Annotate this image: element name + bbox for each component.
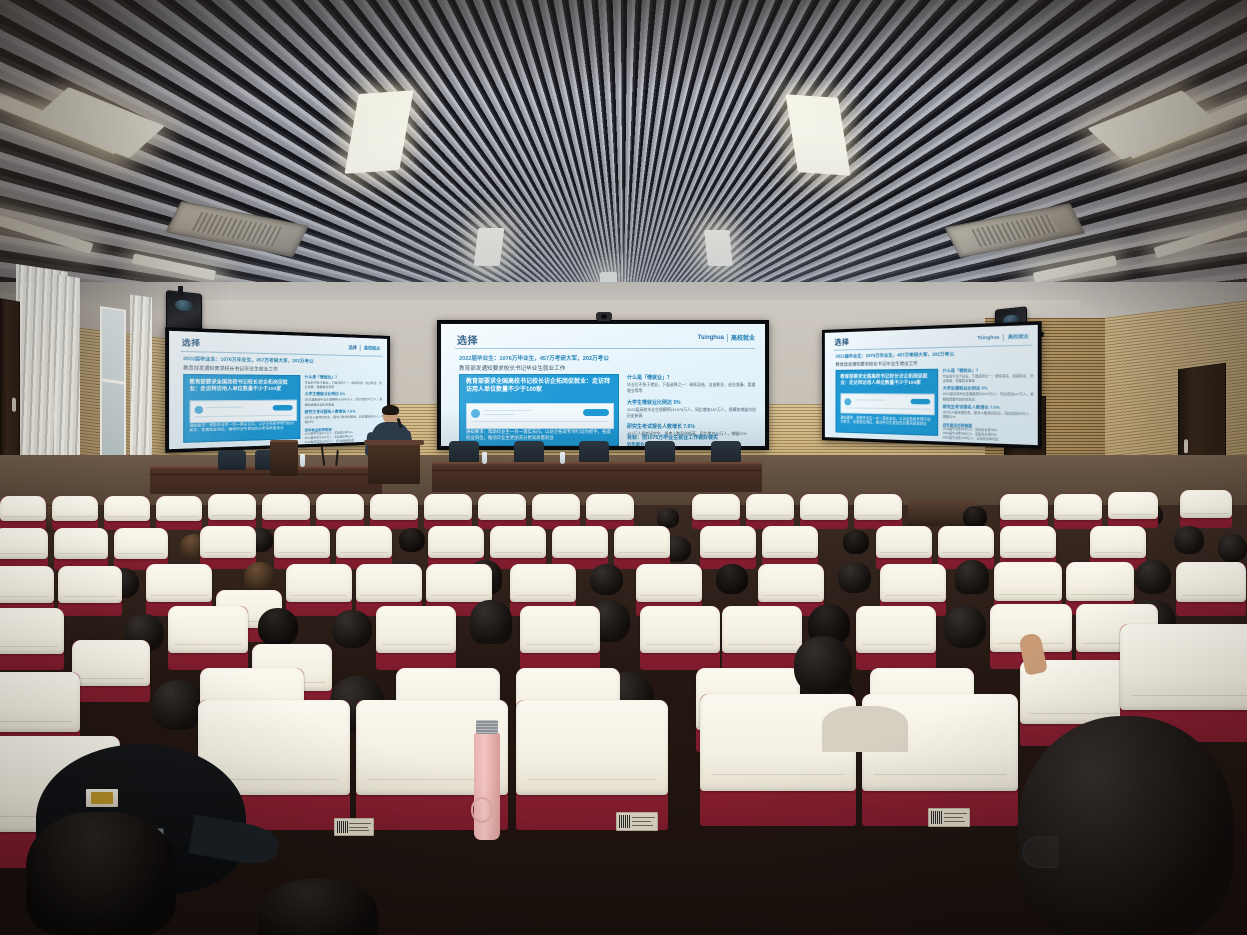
seat[interactable] <box>370 494 418 529</box>
seat[interactable] <box>532 494 580 529</box>
attendee-head <box>794 636 852 694</box>
water-bottle <box>300 454 305 467</box>
column-body-2: 2022届高校毕业生规模预计1076万人，同比增加167万人，规模和增量均创历史… <box>305 397 385 406</box>
card-line <box>844 407 930 409</box>
seat[interactable] <box>376 606 456 670</box>
lectern-top <box>364 440 424 445</box>
slide-left: 选择 选择 高校就业 2022届毕业生：1076万毕业生，457万考研大军，20… <box>169 331 387 449</box>
seat-asset-tag <box>616 812 658 831</box>
camera-lens-icon <box>601 314 607 319</box>
slide-title-right: 选择 <box>835 337 850 348</box>
seat[interactable] <box>208 494 256 529</box>
seat[interactable] <box>274 526 330 569</box>
slide-callout-footer-right: 通知要求：帮助毕业生一对一落实去向，以访企拓岗专项行动为抓手，拓宽就业岗位，推动… <box>840 415 932 426</box>
seat[interactable] <box>586 494 634 529</box>
thermos-bottle <box>474 732 500 840</box>
projection-screen-right: 选择 Tsinghua 高校就业 2022届毕业生：1076万毕业生，457万考… <box>822 321 1042 449</box>
logo-primary-text: 选择 <box>348 344 356 350</box>
seat[interactable] <box>700 526 756 569</box>
seat[interactable] <box>0 608 64 670</box>
card-action-pill[interactable] <box>273 405 293 411</box>
window-left <box>100 306 126 466</box>
attendee-head <box>843 530 869 554</box>
projection-screen-main: 选择 Tsinghua 高校就业 2022届毕业生：1076万毕业生，457万考… <box>437 320 769 450</box>
slide-callout-box-right: 教育部要求全国高校书记校长访企拓岗促就业：走访拜访用人单位数量不少于100家 通… <box>836 369 939 436</box>
seat[interactable] <box>520 606 600 670</box>
slide-callout-text-left: 教育部要求全国高校书记校长访企拓岗促就业：走访拜访用人单位数量不少于100家 <box>189 379 294 392</box>
column-body-1: 毕业后不急于就业，下面选择之一：继续深造、自由职业、创业准备、暂缓就业等等 <box>943 373 1034 383</box>
card-line <box>471 421 607 422</box>
slide-logo-right: Tsinghua 高校就业 <box>977 332 1029 342</box>
slide-embedded-card <box>466 403 614 429</box>
slide-callout-footer-left: 通知要求：帮助毕业生一对一落实去向，以访企拓岗专项行动为抓手，拓宽就业岗位，推动… <box>189 421 294 433</box>
seat[interactable] <box>516 700 668 830</box>
seat-asset-tag <box>334 818 374 836</box>
column-body-3: 457万人报考研究生，报考人数再创新高，同比增加80万人，增幅21% <box>943 410 1034 421</box>
card-avatar <box>844 398 851 405</box>
seat[interactable] <box>58 566 122 616</box>
card-line <box>854 399 885 400</box>
tag-text-line <box>349 830 369 831</box>
qr-code-icon <box>619 815 630 827</box>
head-table-left-edge <box>150 474 382 475</box>
seat[interactable] <box>104 496 150 530</box>
logo-secondary-text: 高校就业 <box>731 333 755 342</box>
head-table <box>432 462 762 492</box>
slide-subline-left: 教育部发通知要求校长书记毕业生就业工作 <box>183 365 382 374</box>
column-heading-1: 什么是「慢就业」？ <box>627 374 759 381</box>
qr-code-icon <box>931 811 942 823</box>
slide-callout-text-right: 教育部要求全国高校书记校长访企拓岗促就业：走访拜访用人单位数量不少于100家 <box>840 373 932 385</box>
seat[interactable] <box>800 494 848 529</box>
seat[interactable] <box>336 526 392 569</box>
seat-asset-tag <box>928 808 970 827</box>
column-body-2: 2022届高校毕业生规模预计1076万人，同比增加167万人，规模和增量均创历史… <box>943 392 1034 402</box>
seat[interactable] <box>316 494 364 529</box>
lectern-side <box>270 440 298 476</box>
seat[interactable] <box>478 494 526 529</box>
stage-chair <box>514 441 544 463</box>
tag-text-line <box>349 823 370 824</box>
slide-title-rule <box>455 348 755 349</box>
logo-primary-text: Tsinghua <box>977 334 999 340</box>
seat[interactable] <box>854 494 902 529</box>
attendee-head <box>838 562 871 593</box>
speaker-mount-left <box>178 286 183 296</box>
slide-subline: 教育部发通知要求校长书记毕业生就业工作 <box>459 364 759 372</box>
ceiling-shading <box>0 0 1247 300</box>
tag-text-line <box>944 813 966 814</box>
tag-text-line <box>944 817 963 818</box>
attendee-head <box>470 600 512 644</box>
seat[interactable] <box>200 526 256 569</box>
seat[interactable] <box>262 494 310 529</box>
slide-embedded-card-right <box>840 393 934 415</box>
seat[interactable] <box>614 526 670 569</box>
attendee-shoulder <box>822 706 908 752</box>
card-avatar <box>471 409 480 418</box>
seat[interactable] <box>640 606 720 670</box>
cap-logo-patch <box>86 789 118 807</box>
logo-secondary-text: 高校就业 <box>1008 333 1029 341</box>
attendee-head <box>1174 526 1204 554</box>
seat[interactable] <box>0 496 46 530</box>
card-line <box>484 414 514 415</box>
head-table-left-wing <box>150 466 382 494</box>
slide-main: 选择 Tsinghua 高校就业 2022届毕业生：1076万毕业生，457万考… <box>441 324 765 446</box>
slide-callout-box-left: 教育部要求全国高校书记校长访企拓岗促就业：走访拜访用人单位数量不少于100家 通… <box>183 374 300 443</box>
water-bottle <box>560 452 565 464</box>
slide-title-left: 选择 <box>182 337 201 349</box>
seat[interactable] <box>746 494 794 529</box>
card-line <box>194 415 292 418</box>
seat[interactable] <box>1176 562 1246 616</box>
stage-chair <box>645 441 675 463</box>
attendee-head <box>258 608 298 646</box>
presenter-hair <box>382 405 399 415</box>
column-body-4: 2020届毕业生874万人 · 实际就业率78% 2021届毕业生909万人 ·… <box>943 428 1034 445</box>
logo-secondary-text: 高校就业 <box>364 345 380 352</box>
head-table-edge <box>432 470 762 471</box>
attendee-head <box>944 606 986 648</box>
slide-callout-box: 教育部要求全国高校书记校长访企拓岗促就业：走访拜访用人单位数量不少于100家 通… <box>459 374 619 446</box>
seat[interactable] <box>72 640 150 702</box>
seat[interactable] <box>552 526 608 569</box>
slide-logo: Tsinghua 高校就业 <box>698 333 755 342</box>
slide-headline: 2022届毕业生：1076万毕业生，457万考研大军，202万考公 <box>459 354 759 362</box>
door-handle[interactable] <box>1184 439 1188 454</box>
tag-text-line <box>632 817 654 818</box>
stage-chair <box>579 441 609 463</box>
column-body-1: 毕业后不急于就业，下面选择之一：继续深造、自由职业、创业准备、暂缓就业等等 <box>305 380 385 389</box>
seat[interactable] <box>856 606 936 670</box>
seat[interactable] <box>424 494 472 529</box>
slide-column-right: 什么是「慢就业」？ 毕业后不急于就业，下面选择之一：继续深造、自由职业、创业准备… <box>943 368 1034 445</box>
attendee-head <box>1135 560 1171 594</box>
card-action-pill[interactable] <box>583 409 609 416</box>
slide-subline-right: 教育部发通知要求校长书记毕业生就业工作 <box>836 358 1032 367</box>
seat[interactable] <box>1054 494 1102 529</box>
slide-bottom-note: 目标：把1076万毕业生就业工作做好做实 <box>627 434 718 441</box>
attendee-head <box>955 560 989 594</box>
column-body-2: 2022届高校毕业生规模预计1076万人，同比增加167万人，规模和增量均创历史… <box>627 407 759 419</box>
attendee-head <box>716 564 748 594</box>
attendee-head <box>657 508 679 528</box>
slide-callout-text: 教育部要求全国高校书记校长访企拓岗促就业：走访拜访用人单位数量不少于100家 <box>466 379 612 394</box>
stage-chair <box>711 441 741 463</box>
seat[interactable] <box>692 494 740 529</box>
card-action-pill[interactable] <box>911 399 931 405</box>
qr-code-icon <box>337 821 348 833</box>
card-line <box>484 410 532 411</box>
seat[interactable] <box>156 496 202 530</box>
seat[interactable] <box>722 606 802 670</box>
seat[interactable] <box>286 564 352 616</box>
attendee-head <box>244 562 276 592</box>
water-bottle <box>482 452 487 464</box>
attendee-head <box>963 506 987 528</box>
column-body-1: 毕业后不急于就业，下面选择之一：继续深造、自由职业、创业准备、暂缓就业等等 <box>627 382 759 394</box>
attendee-head <box>332 610 372 648</box>
slide-logo-left: 选择 高校就业 <box>348 344 380 352</box>
thermos-handle <box>471 797 493 823</box>
slide-right: 选择 Tsinghua 高校就业 2022届毕业生：1076万毕业生，457万考… <box>825 325 1038 445</box>
card-line <box>207 407 243 409</box>
seat[interactable] <box>762 526 818 569</box>
slide-embedded-card-left <box>189 400 297 424</box>
slide-title: 选择 <box>457 332 478 347</box>
seat[interactable] <box>876 526 932 569</box>
seat[interactable] <box>0 528 48 570</box>
column-bottom-note: 目标：把1076万毕业生就业工作做好做实 <box>943 444 1034 445</box>
tag-text-line <box>944 821 965 822</box>
logo-divider <box>360 345 361 351</box>
logo-divider <box>727 334 728 342</box>
attendee-hair-under-cap <box>26 812 176 935</box>
attendee-head <box>1218 534 1247 562</box>
auditorium-photo: 选择 Tsinghua 高校就业 2022届毕业生：1076万毕业生，457万考… <box>0 0 1247 935</box>
attendee-head-foreground <box>1018 716 1234 935</box>
column-heading-2: 大学生慢就业比例达 5% <box>627 399 759 406</box>
projection-screen-left: 选择 选择 高校就业 2022届毕业生：1076万毕业生，457万考研大军，20… <box>165 327 390 453</box>
thermos-cap <box>476 720 499 734</box>
column-heading-3: 研究生考试报名人数增长 7.6% <box>627 423 759 430</box>
column-body-3: 457万人报考研究生，报考人数再创新高，同比增加80万人，增幅21% <box>305 414 385 424</box>
seat[interactable] <box>168 606 248 670</box>
card-avatar <box>194 406 203 414</box>
attendee-head <box>152 680 204 730</box>
lectern <box>368 442 420 484</box>
door-handle[interactable] <box>12 397 16 412</box>
attendee-head <box>399 528 425 552</box>
logo-primary-text: Tsinghua <box>698 335 724 341</box>
stage-chair <box>218 450 246 470</box>
ceiling <box>0 0 1247 300</box>
seat[interactable] <box>1108 492 1158 528</box>
tag-text-line <box>632 821 651 822</box>
tag-text-line <box>632 825 653 826</box>
slide-callout-footer: 通知要求：帮助毕业生一对一落实去向，以访企拓岗专项行动为抓手，拓宽就业岗位，推动… <box>466 429 612 440</box>
seat[interactable] <box>54 528 108 570</box>
seat[interactable] <box>52 496 98 530</box>
seat[interactable] <box>490 526 546 569</box>
seat[interactable] <box>1000 494 1048 529</box>
tag-text-line <box>349 827 367 828</box>
stage-chair <box>449 441 479 463</box>
attendee-head <box>590 564 623 595</box>
logo-divider <box>1003 333 1004 340</box>
eyeglasses <box>1022 836 1058 868</box>
seat[interactable] <box>1180 490 1232 528</box>
